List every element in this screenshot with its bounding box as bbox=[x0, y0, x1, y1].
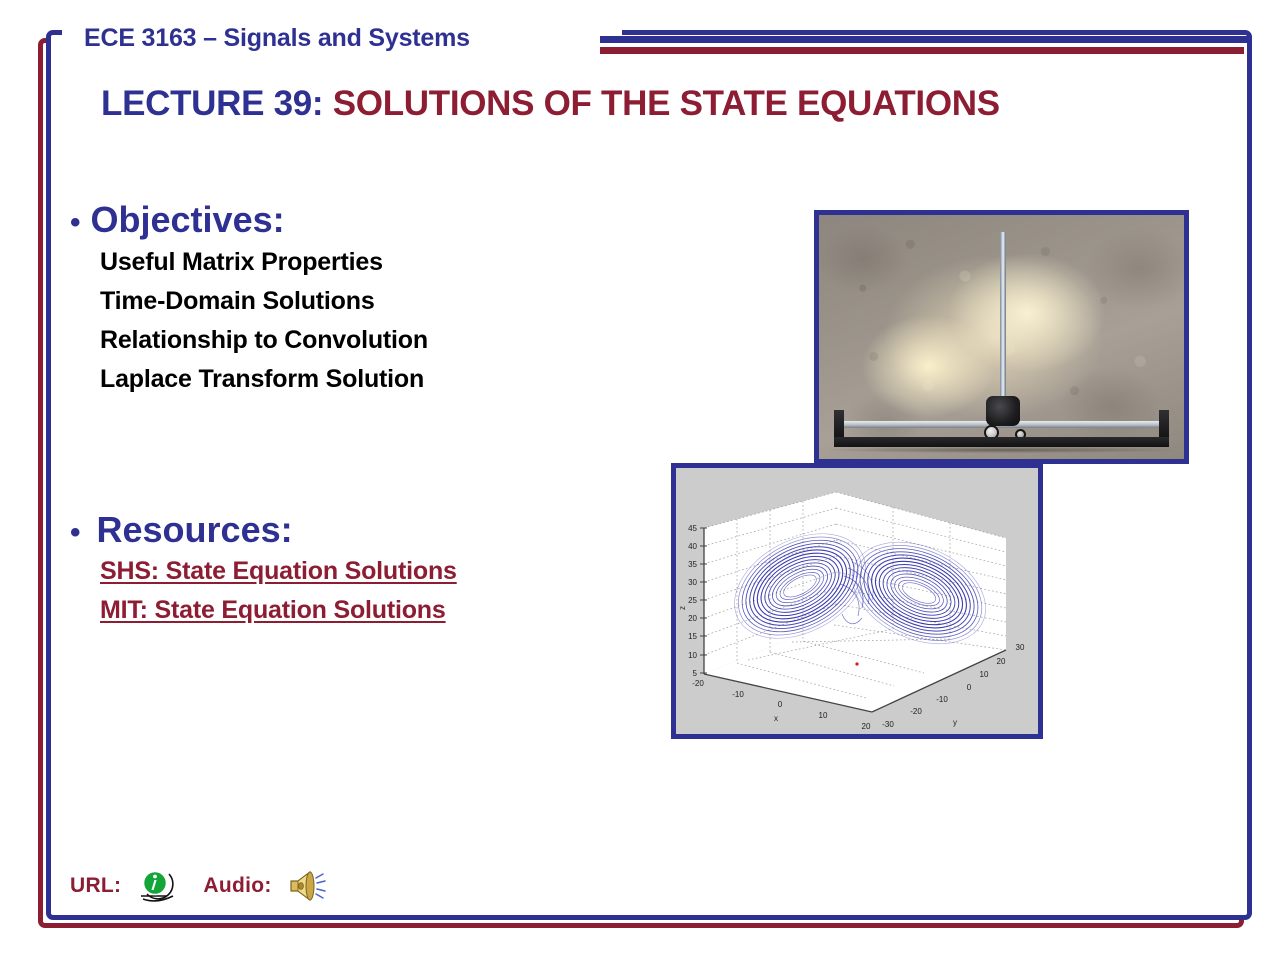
info-circle-icon[interactable] bbox=[133, 866, 181, 906]
photo-shadow bbox=[830, 447, 1173, 453]
svg-text:-20: -20 bbox=[692, 679, 704, 688]
url-label: URL: bbox=[70, 874, 121, 898]
resources-heading-label: Resources: bbox=[97, 510, 293, 550]
resource-link-shs[interactable]: SHS: State Equation Solutions bbox=[100, 552, 457, 591]
svg-text:20: 20 bbox=[862, 722, 871, 731]
list-item: Useful Matrix Properties bbox=[100, 243, 428, 282]
svg-text:-20: -20 bbox=[910, 707, 922, 716]
z-tick-labels: 45 40 35 30 25 20 15 10 5 bbox=[688, 524, 697, 678]
section-objectives: • Objectives: Useful Matrix Properties T… bbox=[70, 200, 428, 399]
course-title: ECE 3163 – Signals and Systems bbox=[84, 24, 470, 53]
slide-footer: URL: Audio: bbox=[70, 866, 332, 906]
resources-link-list: SHS: State Equation Solutions MIT: State… bbox=[100, 552, 457, 630]
audio-label: Audio: bbox=[203, 874, 271, 898]
list-item: Relationship to Convolution bbox=[100, 321, 428, 360]
svg-text:35: 35 bbox=[688, 560, 697, 569]
z-axis-label: z bbox=[678, 606, 687, 610]
pendulum-pivot-hub bbox=[986, 396, 1020, 426]
svg-text:0: 0 bbox=[967, 683, 972, 692]
lorenz-attractor-svg: 45 40 35 30 25 20 15 10 5 z -20 -10 0 10… bbox=[676, 468, 1038, 734]
y-axis-label: y bbox=[953, 718, 957, 727]
svg-text:20: 20 bbox=[688, 614, 697, 623]
objectives-list: Useful Matrix Properties Time-Domain Sol… bbox=[100, 243, 428, 399]
photo-backdrop bbox=[819, 215, 1184, 459]
bullet-icon: • bbox=[70, 208, 81, 238]
pendulum-base bbox=[834, 437, 1170, 447]
svg-text:30: 30 bbox=[688, 578, 697, 587]
bullet-icon: • bbox=[70, 518, 81, 548]
svg-text:10: 10 bbox=[819, 711, 828, 720]
objectives-heading: • Objectives: bbox=[70, 200, 428, 240]
svg-text:20: 20 bbox=[997, 657, 1006, 666]
svg-text:5: 5 bbox=[693, 669, 698, 678]
slide-content: • Objectives: Useful Matrix Properties T… bbox=[0, 0, 1280, 960]
svg-text:10: 10 bbox=[688, 651, 697, 660]
pendulum-rod bbox=[1000, 232, 1006, 405]
svg-text:10: 10 bbox=[980, 670, 989, 679]
resource-link-mit[interactable]: MIT: State Equation Solutions bbox=[100, 591, 457, 630]
svg-text:15: 15 bbox=[688, 632, 697, 641]
svg-text:-10: -10 bbox=[936, 695, 948, 704]
page-title: LECTURE 39: SOLUTIONS OF THE STATE EQUAT… bbox=[101, 84, 1000, 124]
lecture-topic: SOLUTIONS OF THE STATE EQUATIONS bbox=[323, 84, 1000, 123]
list-item: Time-Domain Solutions bbox=[100, 282, 428, 321]
section-resources: • Resources: SHS: State Equation Solutio… bbox=[70, 510, 457, 630]
inverted-pendulum-photo bbox=[814, 210, 1189, 464]
speaker-icon[interactable] bbox=[286, 866, 332, 906]
objectives-heading-label: Objectives: bbox=[91, 200, 285, 240]
lorenz-attractor-plot: 45 40 35 30 25 20 15 10 5 z -20 -10 0 10… bbox=[671, 463, 1043, 739]
x-axis-label: x bbox=[774, 714, 778, 723]
svg-text:45: 45 bbox=[688, 524, 697, 533]
svg-text:-30: -30 bbox=[882, 720, 894, 729]
svg-text:40: 40 bbox=[688, 542, 697, 551]
list-item: Laplace Transform Solution bbox=[100, 360, 428, 399]
svg-text:30: 30 bbox=[1016, 643, 1025, 652]
trajectory-start-marker bbox=[855, 662, 858, 665]
svg-text:25: 25 bbox=[688, 596, 697, 605]
lecture-number: LECTURE 39: bbox=[101, 84, 323, 123]
resources-heading: • Resources: bbox=[70, 510, 457, 550]
svg-text:-10: -10 bbox=[732, 690, 744, 699]
svg-text:0: 0 bbox=[778, 700, 783, 709]
